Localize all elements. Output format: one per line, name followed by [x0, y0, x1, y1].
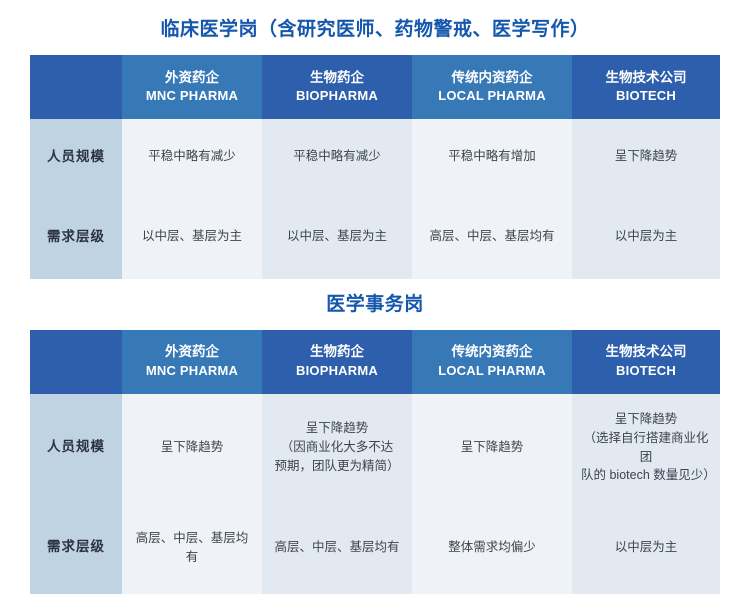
row-label-demand-level: 需求层级 — [30, 502, 122, 594]
header-col-biotech-en: BIOTECH — [578, 362, 714, 381]
section-medical-affairs: 医学事务岗 外资药企 MNC PHARMA 生物药企 BIO — [0, 279, 750, 594]
table-wrapper-medical-affairs: 外资药企 MNC PHARMA 生物药企 BIOPHARMA 传统内资药企 LO… — [30, 330, 720, 594]
cell-demand-local: 整体需求均偏少 — [412, 502, 572, 594]
table-row: 需求层级 高层、中层、基层均有 高层、中层、基层均有 整体需求均偏少 以中层为主 — [30, 502, 720, 594]
header-col-biopharma: 生物药企 BIOPHARMA — [262, 55, 412, 119]
header-col-mnc-pharma: 外资药企 MNC PHARMA — [122, 330, 262, 394]
table-row: 人员规模 平稳中略有减少 平稳中略有减少 平稳中略有增加 呈下降趋势 — [30, 119, 720, 195]
cell-demand-mnc: 以中层、基层为主 — [122, 195, 262, 279]
cell-headcount-local: 平稳中略有增加 — [412, 119, 572, 195]
cell-demand-local: 高层、中层、基层均有 — [412, 195, 572, 279]
header-col-mnc-pharma-en: MNC PHARMA — [128, 362, 256, 381]
header-col-biopharma-en: BIOPHARMA — [268, 362, 406, 381]
header-corner-cell — [30, 330, 122, 394]
cell-headcount-local: 呈下降趋势 — [412, 394, 572, 502]
header-col-local-pharma-cn: 传统内资药企 — [418, 342, 566, 362]
table-medical-affairs: 外资药企 MNC PHARMA 生物药企 BIOPHARMA 传统内资药企 LO… — [30, 330, 720, 594]
table-body-medical-affairs: 人员规模 呈下降趋势 呈下降趋势 （因商业化大多不达 预期，团队更为精简） 呈下… — [30, 394, 720, 594]
header-corner-cell — [30, 55, 122, 119]
header-col-local-pharma-cn: 传统内资药企 — [418, 68, 566, 88]
cell-headcount-biopharma: 平稳中略有减少 — [262, 119, 412, 195]
cell-demand-biotech: 以中层为主 — [572, 502, 720, 594]
table-header-clinical: 外资药企 MNC PHARMA 生物药企 BIOPHARMA 传统内资药企 LO… — [30, 55, 720, 119]
table-body-clinical: 人员规模 平稳中略有减少 平稳中略有减少 平稳中略有增加 呈下降趋势 — [30, 119, 720, 279]
row-label-headcount: 人员规模 — [30, 119, 122, 195]
header-col-local-pharma: 传统内资药企 LOCAL PHARMA — [412, 330, 572, 394]
cell-headcount-biotech: 呈下降趋势 （选择自行搭建商业化团 队的 biotech 数量见少） — [572, 394, 720, 502]
cell-headcount-biotech: 呈下降趋势 — [572, 119, 720, 195]
cell-headcount-biopharma: 呈下降趋势 （因商业化大多不达 预期，团队更为精简） — [262, 394, 412, 502]
table-clinical: 外资药企 MNC PHARMA 生物药企 BIOPHARMA 传统内资药企 LO… — [30, 55, 720, 279]
row-label-headcount: 人员规模 — [30, 394, 122, 502]
table-row: 需求层级 以中层、基层为主 以中层、基层为主 高层、中层、基层均有 以中层为主 — [30, 195, 720, 279]
header-col-biotech-cn: 生物技术公司 — [578, 68, 714, 88]
cell-demand-biopharma: 高层、中层、基层均有 — [262, 502, 412, 594]
cell-headcount-mnc: 呈下降趋势 — [122, 394, 262, 502]
header-col-mnc-pharma-en: MNC PHARMA — [128, 87, 256, 106]
header-row: 外资药企 MNC PHARMA 生物药企 BIOPHARMA 传统内资药企 LO… — [30, 330, 720, 394]
header-col-biotech: 生物技术公司 BIOTECH — [572, 55, 720, 119]
header-col-biopharma-cn: 生物药企 — [268, 342, 406, 362]
header-col-biotech-cn: 生物技术公司 — [578, 342, 714, 362]
header-col-mnc-pharma-cn: 外资药企 — [128, 68, 256, 88]
header-col-mnc-pharma: 外资药企 MNC PHARMA — [122, 55, 262, 119]
cell-demand-mnc: 高层、中层、基层均有 — [122, 502, 262, 594]
header-col-biopharma-en: BIOPHARMA — [268, 87, 406, 106]
table-header-medical-affairs: 外资药企 MNC PHARMA 生物药企 BIOPHARMA 传统内资药企 LO… — [30, 330, 720, 394]
header-col-biopharma-cn: 生物药企 — [268, 68, 406, 88]
header-col-biotech: 生物技术公司 BIOTECH — [572, 330, 720, 394]
page-title-medical-affairs: 医学事务岗 — [0, 279, 750, 330]
cell-demand-biotech: 以中层为主 — [572, 195, 720, 279]
row-label-demand-level: 需求层级 — [30, 195, 122, 279]
cell-headcount-mnc: 平稳中略有减少 — [122, 119, 262, 195]
page-root: 临床医学岗（含研究医师、药物警戒、医学写作） 外资药企 MNC PHARMA 生… — [0, 0, 750, 597]
header-col-local-pharma: 传统内资药企 LOCAL PHARMA — [412, 55, 572, 119]
cell-demand-biopharma: 以中层、基层为主 — [262, 195, 412, 279]
header-col-local-pharma-en: LOCAL PHARMA — [418, 87, 566, 106]
header-col-biopharma: 生物药企 BIOPHARMA — [262, 330, 412, 394]
section-clinical: 临床医学岗（含研究医师、药物警戒、医学写作） 外资药企 MNC PHARMA 生… — [0, 0, 750, 279]
table-row: 人员规模 呈下降趋势 呈下降趋势 （因商业化大多不达 预期，团队更为精简） 呈下… — [30, 394, 720, 502]
table-wrapper-clinical: 外资药企 MNC PHARMA 生物药企 BIOPHARMA 传统内资药企 LO… — [30, 55, 720, 279]
header-col-local-pharma-en: LOCAL PHARMA — [418, 362, 566, 381]
header-row: 外资药企 MNC PHARMA 生物药企 BIOPHARMA 传统内资药企 LO… — [30, 55, 720, 119]
page-title-clinical: 临床医学岗（含研究医师、药物警戒、医学写作） — [0, 0, 750, 55]
header-col-mnc-pharma-cn: 外资药企 — [128, 342, 256, 362]
header-col-biotech-en: BIOTECH — [578, 87, 714, 106]
